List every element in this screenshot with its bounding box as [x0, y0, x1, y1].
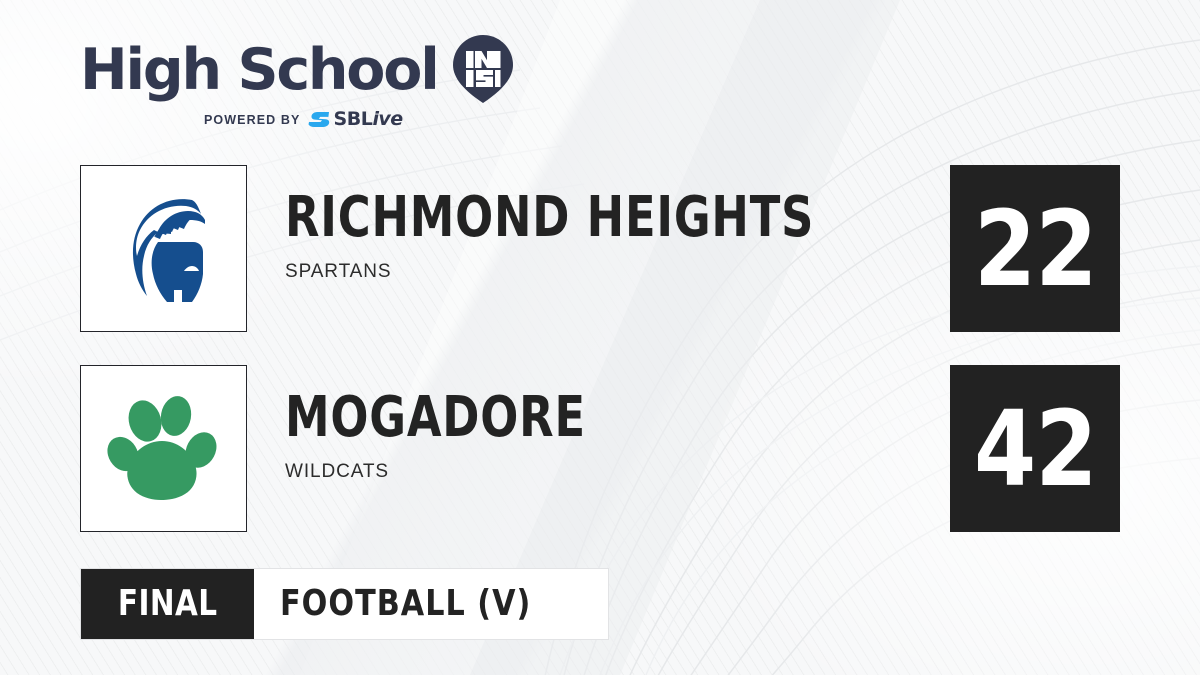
team-info-home: RICHMOND HEIGHTS SPARTANS: [285, 189, 985, 283]
team-name-home: RICHMOND HEIGHTS: [285, 189, 845, 247]
team-mascot-home: SPARTANS: [285, 261, 985, 283]
team-row-away: MOGADORE WILDCATS 42: [80, 365, 1120, 535]
spartan-helmet-icon: [110, 190, 218, 308]
team-mascot-away: WILDCATS: [285, 461, 985, 483]
sport-label-panel: FOOTBALL (V): [254, 569, 607, 639]
sblive-bold-text: SBL: [333, 108, 372, 130]
sblive-wordmark: SBLive: [333, 110, 402, 129]
brand-wordmark-text: High School: [80, 41, 438, 99]
team-info-away: MOGADORE WILDCATS: [285, 389, 985, 483]
paw-print-icon: [106, 389, 222, 509]
sport-label-text: FOOTBALL (V): [280, 586, 531, 622]
score-value-away: 42: [974, 397, 1097, 501]
game-status-badge: FINAL: [81, 569, 254, 639]
status-bar: FINAL FOOTBALL (V): [80, 568, 609, 640]
powered-by-row: POWERED BY SBLive: [80, 110, 520, 129]
brand-wordmark: High School: [80, 36, 520, 104]
team-row-home: RICHMOND HEIGHTS SPARTANS 22: [80, 165, 1120, 335]
scorecard: High School POWERED BY: [0, 0, 1200, 675]
powered-by-label: POWERED BY: [204, 113, 300, 127]
game-status-text: FINAL: [118, 586, 218, 622]
score-box-away: 42: [950, 365, 1120, 532]
on-si-pin-icon: [452, 34, 514, 104]
sblive-logo: SBLive: [308, 110, 402, 129]
team-name-away: MOGADORE: [285, 389, 845, 447]
team-logo-box-away: [80, 365, 247, 532]
score-value-home: 22: [974, 197, 1097, 301]
sblive-italic-text: ive: [373, 108, 403, 130]
team-logo-box-home: [80, 165, 247, 332]
score-box-home: 22: [950, 165, 1120, 332]
sblive-bolt-icon: [308, 110, 330, 129]
brand-header: High School POWERED BY: [80, 36, 520, 136]
